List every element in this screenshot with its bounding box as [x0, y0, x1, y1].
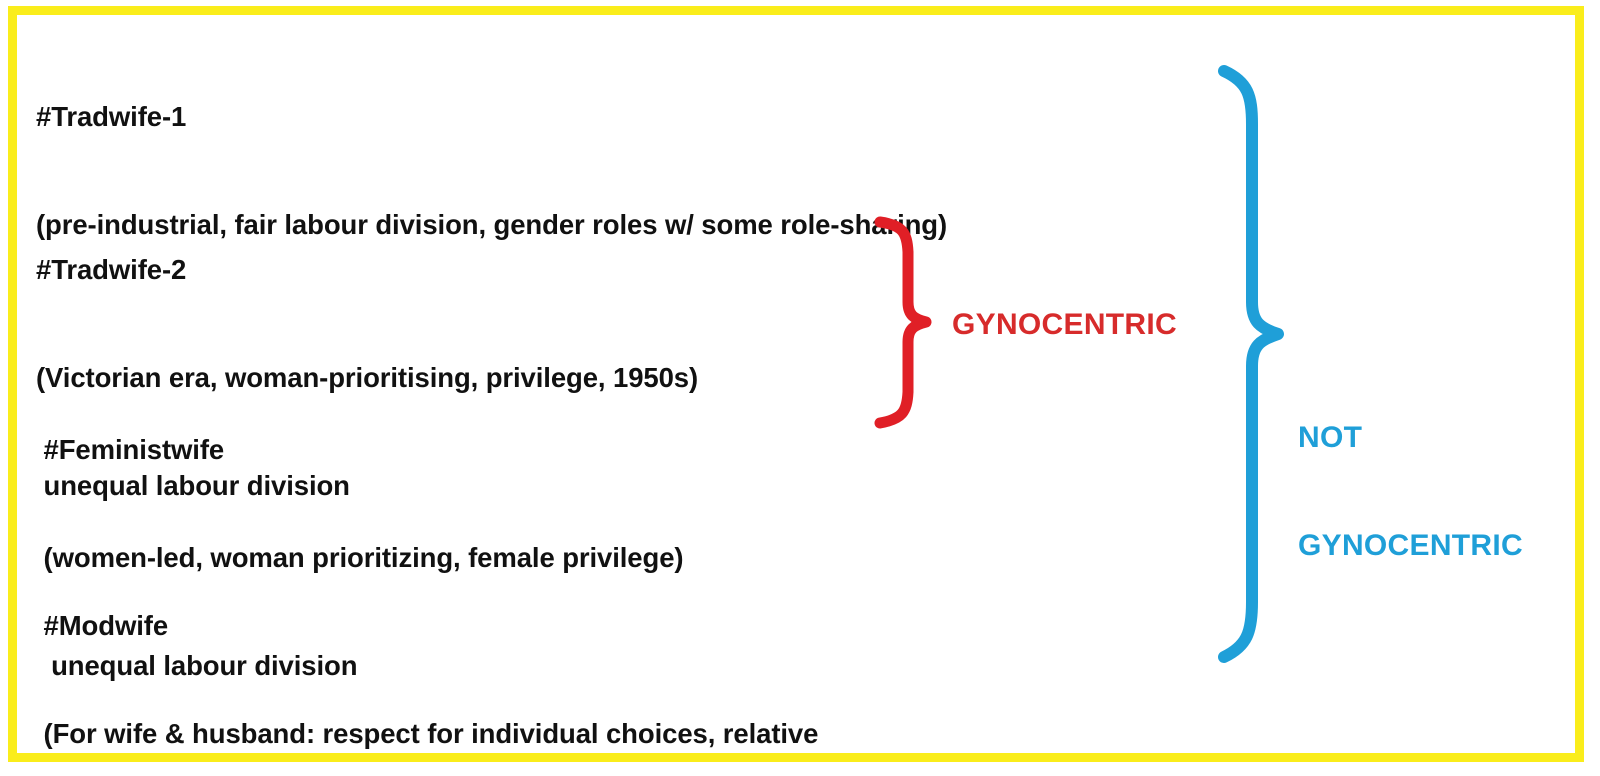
category-block-modwife: #Modwife (For wife & husband: respect fo…	[36, 536, 838, 776]
block-line: #Modwife	[36, 608, 838, 644]
block-line: #Feministwife	[36, 432, 683, 468]
red-curly-brace-icon	[862, 218, 954, 428]
diagram-canvas: #Tradwife-1 (pre-industrial, fair labour…	[0, 0, 1600, 776]
block-line: #Tradwife-1	[36, 99, 947, 135]
not-gynocentric-label: NOT GYNOCENTRIC	[1298, 348, 1523, 636]
block-line: #Tradwife-2	[36, 252, 698, 288]
blue-curly-brace-icon	[1200, 66, 1300, 662]
not-gynocentric-line1: NOT	[1298, 420, 1523, 456]
block-line: (For wife & husband: respect for individ…	[36, 716, 838, 752]
not-gynocentric-line2: GYNOCENTRIC	[1298, 528, 1523, 564]
gynocentric-label: GYNOCENTRIC	[952, 308, 1177, 342]
